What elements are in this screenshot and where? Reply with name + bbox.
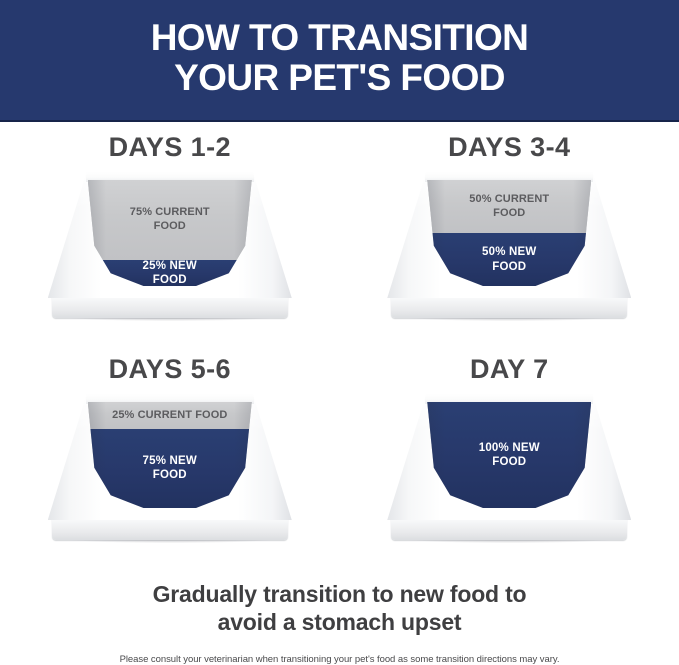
transition-steps-grid: DAYS 1-2 75% CURRENT FOOD 25% NEW FOOD D… [0, 122, 679, 576]
food-bowl: 50% CURRENT FOOD 50% NEW FOOD [387, 172, 631, 318]
current-food-label: 25% CURRENT FOOD [107, 409, 232, 422]
footer: Gradually transition to new food to avoi… [0, 576, 679, 665]
transition-step-day-7: DAY 7 100% NEW FOOD [340, 354, 679, 576]
tagline-text: Gradually transition to new food to avoi… [0, 580, 679, 636]
current-food-fill: 50% CURRENT FOOD [427, 180, 591, 233]
step-day-label: DAYS 3-4 [448, 132, 570, 163]
food-bowl: 75% CURRENT FOOD 25% NEW FOOD [48, 172, 292, 318]
new-food-fill: 100% NEW FOOD [427, 402, 591, 508]
step-day-label: DAYS 1-2 [109, 132, 231, 163]
transition-step-days-5-6: DAYS 5-6 25% CURRENT FOOD 75% NEW FOOD [0, 354, 340, 576]
current-food-label: 75% CURRENT FOOD [125, 206, 215, 233]
new-food-label: 25% NEW FOOD [138, 259, 202, 286]
bowl-cavity: 100% NEW FOOD [427, 402, 591, 508]
header-banner: HOW TO TRANSITION YOUR PET'S FOOD [0, 0, 679, 122]
step-day-label: DAYS 5-6 [109, 354, 231, 385]
transition-step-days-1-2: DAYS 1-2 75% CURRENT FOOD 25% NEW FOOD [0, 132, 340, 354]
current-food-fill: 25% CURRENT FOOD [88, 402, 252, 429]
new-food-label: 50% NEW FOOD [477, 245, 541, 273]
current-food-label: 50% CURRENT FOOD [464, 193, 554, 220]
disclaimer-text: Please consult your veterinarian when tr… [0, 654, 679, 665]
current-food-fill: 75% CURRENT FOOD [88, 180, 252, 260]
food-bowl: 25% CURRENT FOOD 75% NEW FOOD [48, 394, 292, 540]
transition-step-days-3-4: DAYS 3-4 50% CURRENT FOOD 50% NEW FOOD [340, 132, 679, 354]
new-food-label: 75% NEW FOOD [138, 454, 202, 482]
food-bowl: 100% NEW FOOD [387, 394, 631, 540]
new-food-label: 100% NEW FOOD [474, 441, 545, 469]
page-title: HOW TO TRANSITION YOUR PET'S FOOD [151, 18, 529, 102]
bowl-cavity: 50% CURRENT FOOD 50% NEW FOOD [427, 180, 591, 286]
step-day-label: DAY 7 [470, 354, 549, 385]
bowl-cavity: 75% CURRENT FOOD 25% NEW FOOD [88, 180, 252, 286]
bowl-cavity: 25% CURRENT FOOD 75% NEW FOOD [88, 402, 252, 508]
